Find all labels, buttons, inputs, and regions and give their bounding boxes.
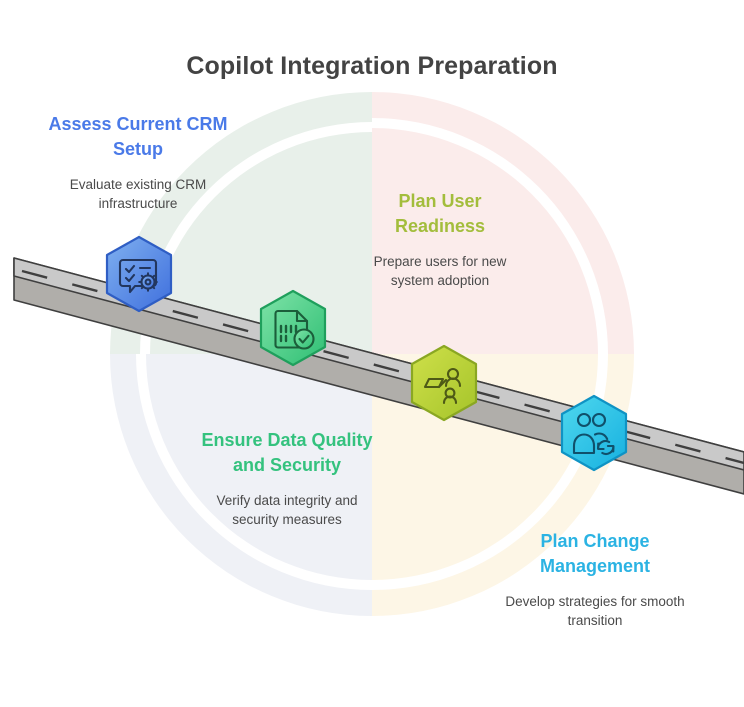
step-block-assess-current-crm-setup: Assess Current CRM Setup Evaluate existi… <box>33 112 243 214</box>
step-node-plan-change-management[interactable] <box>554 393 634 473</box>
step-description: Develop strategies for smooth transition <box>504 592 686 630</box>
step-node-plan-user-readiness[interactable] <box>404 343 484 423</box>
step-description: Prepare users for new system adoption <box>354 252 526 290</box>
infographic-canvas: Copilot Integration Preparation Assess C… <box>0 0 744 707</box>
hexagon-shape <box>562 396 626 470</box>
hexagon-shape <box>261 291 325 365</box>
step-description: Verify data integrity and security measu… <box>196 491 378 529</box>
step-block-plan-change-management: Plan Change Management Develop strategie… <box>504 529 686 631</box>
step-description: Evaluate existing CRM infrastructure <box>33 175 243 213</box>
page-title: Copilot Integration Preparation <box>0 52 744 81</box>
step-block-plan-user-readiness: Plan User Readiness Prepare users for ne… <box>354 189 526 291</box>
step-heading: Assess Current CRM Setup <box>33 112 243 161</box>
hexagon-shape <box>107 237 171 311</box>
step-heading: Ensure Data Quality and Security <box>196 428 378 477</box>
step-node-ensure-data-quality-and-security[interactable] <box>253 288 333 368</box>
step-block-ensure-data-quality-and-security: Ensure Data Quality and Security Verify … <box>196 428 378 530</box>
step-heading: Plan User Readiness <box>354 189 526 238</box>
step-heading: Plan Change Management <box>504 529 686 578</box>
step-node-assess-current-crm-setup[interactable] <box>99 234 179 314</box>
